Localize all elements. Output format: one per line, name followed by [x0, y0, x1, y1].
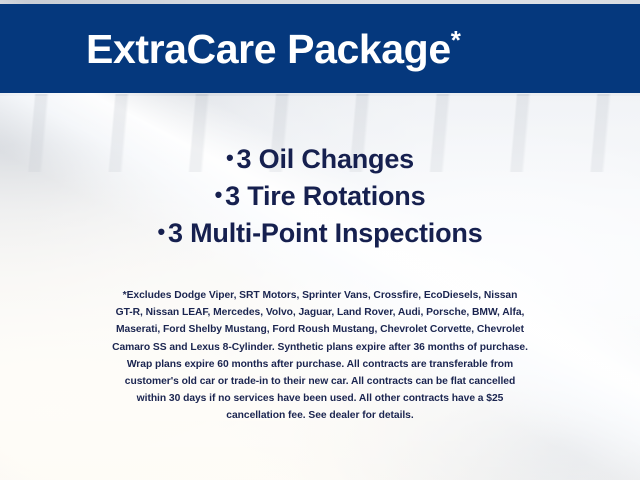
page-title: ExtraCare Package*: [86, 27, 461, 70]
list-item-label: 3 Oil Changes: [237, 144, 414, 174]
disclaimer-line: Camaro SS and Lexus 8-Cylinder. Syntheti…: [38, 339, 602, 356]
disclaimer-line: within 30 days if no services have been …: [38, 390, 602, 407]
list-item: •3 Multi-Point Inspections: [0, 214, 640, 251]
list-item-label: 3 Multi-Point Inspections: [168, 218, 483, 248]
disclaimer-line: GT-R, Nissan LEAF, Mercedes, Volvo, Jagu…: [38, 304, 602, 321]
legal-disclaimer: *Excludes Dodge Viper, SRT Motors, Sprin…: [38, 287, 602, 425]
disclaimer-line: Wrap plans expire 60 months after purcha…: [38, 356, 602, 373]
bullet-icon: •: [215, 182, 223, 207]
bullet-icon: •: [157, 219, 165, 244]
page-title-text: ExtraCare Package: [86, 26, 451, 72]
title-asterisk: *: [451, 25, 461, 55]
extracare-package-ad: ExtraCare Package* •3 Oil Changes •3 Tir…: [0, 0, 640, 480]
benefits-list: •3 Oil Changes •3 Tire Rotations •3 Mult…: [0, 140, 640, 251]
disclaimer-line: cancellation fee. See dealer for details…: [38, 407, 602, 424]
list-item-label: 3 Tire Rotations: [225, 181, 425, 211]
header-banner: ExtraCare Package*: [0, 4, 640, 93]
disclaimer-line: Maserati, Ford Shelby Mustang, Ford Rous…: [38, 321, 602, 338]
bullet-icon: •: [226, 145, 234, 170]
disclaimer-line: *Excludes Dodge Viper, SRT Motors, Sprin…: [38, 287, 602, 304]
list-item: •3 Oil Changes: [0, 140, 640, 177]
list-item: •3 Tire Rotations: [0, 177, 640, 214]
disclaimer-line: customer's old car or trade-in to their …: [38, 373, 602, 390]
